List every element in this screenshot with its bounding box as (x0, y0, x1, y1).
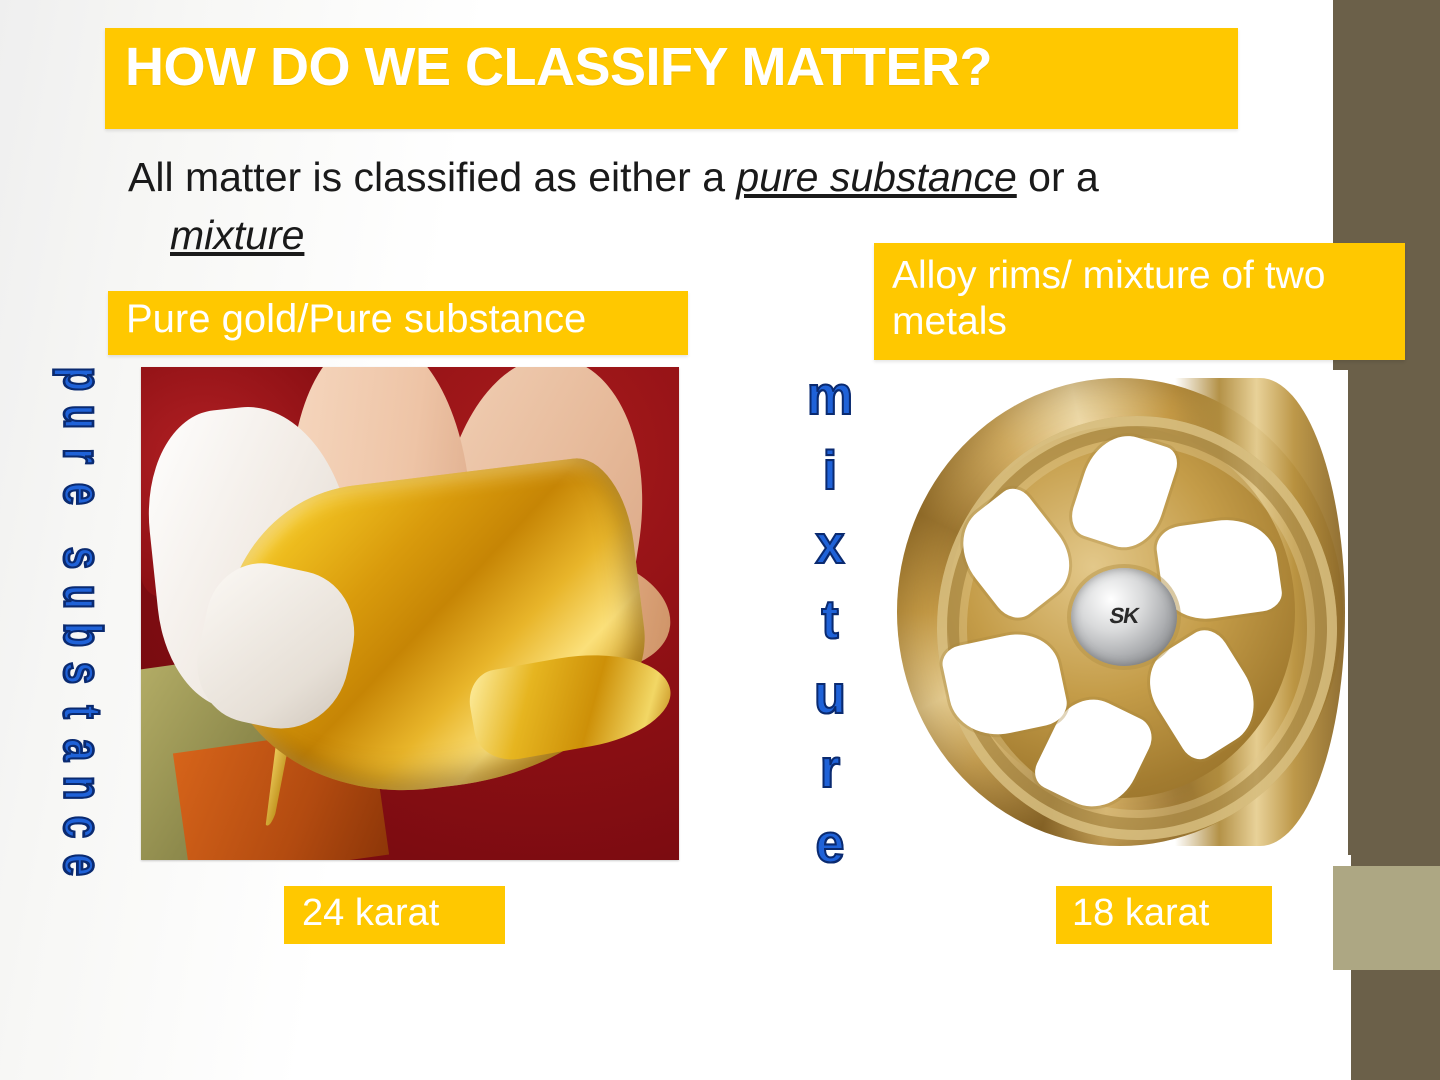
subtitle-part-2: or a (1017, 154, 1099, 200)
wordart-char: s (59, 662, 105, 684)
wordart-char: t (821, 593, 838, 648)
decorative-khaki-block (1333, 866, 1440, 970)
wordart-char: i (823, 443, 837, 498)
gold-alloy-wheel-rim-photo: SK (885, 370, 1348, 860)
wordart-char: a (59, 739, 105, 761)
wordart-char: r (820, 742, 840, 797)
wordart-char: u (814, 667, 846, 722)
wordart-char: b (59, 623, 105, 647)
wordart-char: u (59, 405, 105, 429)
label-alloy-rims: Alloy rims/ mixture of two metals (874, 243, 1405, 360)
wordart-char: u (59, 585, 105, 609)
page-title: HOW DO WE CLASSIFY MATTER? (125, 36, 992, 98)
gold-high-heel-shoe-photo (141, 367, 679, 860)
title-banner: HOW DO WE CLASSIFY MATTER? (105, 28, 1238, 129)
subtitle-emphasis-pure-substance: pure substance (736, 154, 1016, 200)
label-24-karat: 24 karat (284, 886, 505, 944)
wordart-char: e (59, 483, 105, 505)
wordart-char: n (59, 776, 105, 800)
rim-hub-logo: SK (1090, 598, 1158, 634)
wordart-mixture: m i x t u r e (782, 370, 878, 870)
wordart-char: c (59, 815, 105, 837)
wordart-char: m (807, 369, 853, 424)
wordart-pure-substance: p u r e s u b s t a n c e (36, 362, 128, 882)
wordart-char: t (59, 705, 105, 718)
wordart-char: x (816, 518, 845, 573)
wordart-char: s (59, 547, 105, 569)
label-pure-gold: Pure gold/Pure substance (108, 291, 688, 355)
wordart-char: r (59, 448, 105, 464)
wordart-char: e (59, 854, 105, 876)
slide-canvas: HOW DO WE CLASSIFY MATTER? All matter is… (0, 0, 1440, 1080)
label-18-karat: 18 karat (1056, 886, 1272, 944)
wordart-char: e (816, 817, 845, 872)
wordart-char: p (59, 367, 105, 391)
subtitle-part-1: All matter is classified as either a (128, 154, 736, 200)
